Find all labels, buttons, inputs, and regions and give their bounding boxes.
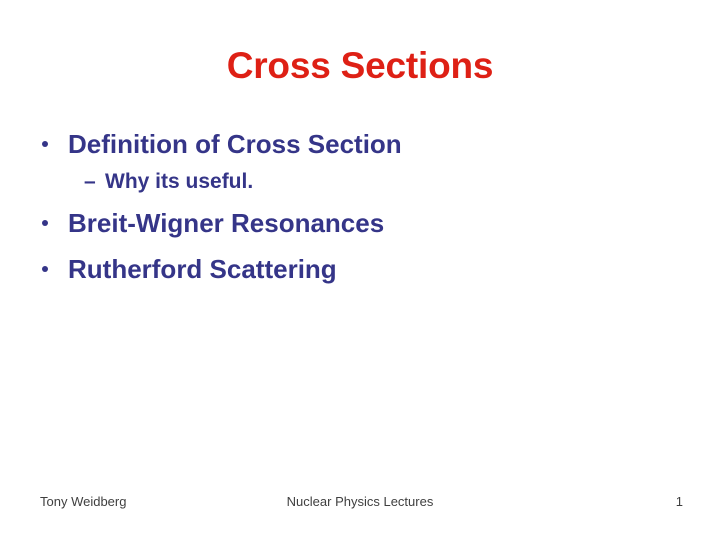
presentation-slide: Cross Sections Definition of Cross Secti… bbox=[0, 0, 720, 540]
list-item: – Why its useful. bbox=[38, 171, 682, 192]
list-item: Definition of Cross Section bbox=[38, 131, 682, 157]
bullet-dot-icon bbox=[42, 141, 48, 147]
list-item: Breit-Wigner Resonances bbox=[38, 210, 682, 236]
list-item-label: Definition of Cross Section bbox=[68, 129, 402, 159]
page-title: Cross Sections bbox=[0, 44, 720, 88]
list-item-label: Why its useful. bbox=[105, 170, 253, 193]
list-item-label: Rutherford Scattering bbox=[68, 254, 337, 284]
bullet-dot-icon bbox=[42, 266, 48, 272]
list-item: Rutherford Scattering bbox=[38, 256, 682, 282]
footer-page-number: 1 bbox=[0, 494, 683, 510]
en-dash-icon: – bbox=[84, 171, 96, 192]
bullet-dot-icon bbox=[42, 220, 48, 226]
list-item-label: Breit-Wigner Resonances bbox=[68, 208, 384, 238]
slide-footer: Tony Weidberg Nuclear Physics Lectures 1 bbox=[0, 494, 720, 514]
bullet-list: Definition of Cross Section – Why its us… bbox=[38, 131, 682, 302]
